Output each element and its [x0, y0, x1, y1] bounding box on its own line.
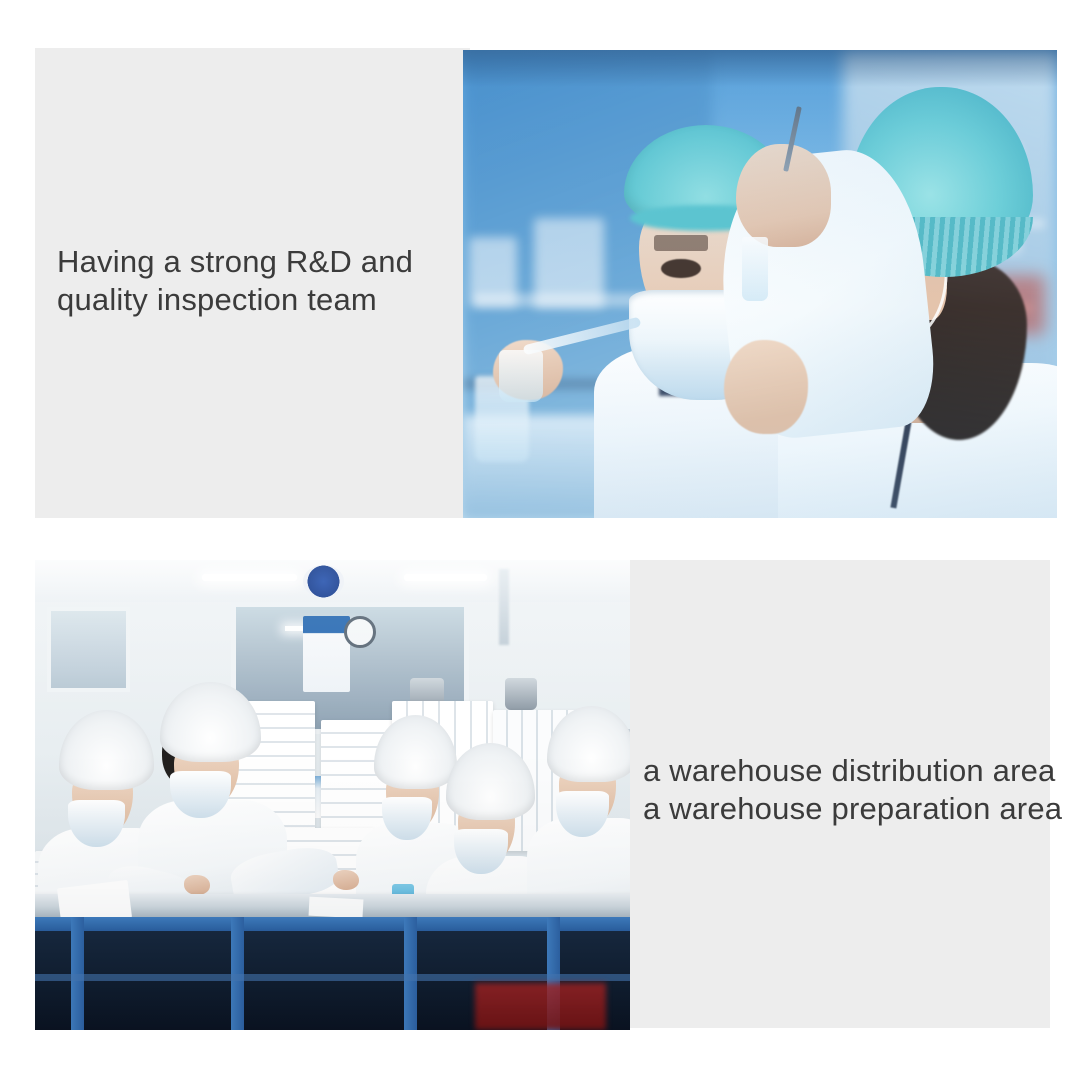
- table-blue-frame: [35, 917, 630, 931]
- hairnet: [547, 706, 630, 783]
- sample-tube: [742, 237, 768, 301]
- gloved-hand-upper: [736, 144, 831, 247]
- hairnet: [446, 743, 535, 820]
- wall-sign-round: [303, 565, 345, 598]
- worker-eye: [661, 259, 701, 279]
- worker-eyebrow: [654, 235, 709, 251]
- paper-sheet: [308, 897, 362, 919]
- lab-inspection-photo: [463, 50, 1057, 518]
- worker-hand: [333, 870, 359, 890]
- floor-red-area: [475, 983, 606, 1030]
- wall-window-left: [47, 607, 130, 692]
- top-caption-line-1: Having a strong R&D and: [57, 243, 413, 281]
- worker-hand: [184, 875, 210, 895]
- slide-canvas: Having a strong R&D and quality inspecti…: [0, 0, 1080, 1080]
- lab-ceiling: [463, 50, 1057, 87]
- top-caption-line-2: quality inspection team: [57, 281, 413, 319]
- ceiling-light: [404, 574, 487, 581]
- lab-equipment-box: [469, 237, 517, 307]
- top-caption: Having a strong R&D and quality inspecti…: [57, 243, 413, 319]
- hairnet: [59, 710, 154, 790]
- reagent-flask: [499, 350, 543, 402]
- hairnet: [160, 682, 261, 762]
- ceiling-duct: [499, 569, 509, 644]
- steel-container: [505, 678, 537, 710]
- table-rail: [35, 974, 630, 981]
- wall-poster: [303, 616, 351, 691]
- bottom-caption-line-1: a warehouse distribution area: [643, 752, 1062, 790]
- bottom-caption: a warehouse distribution area a warehous…: [643, 752, 1062, 828]
- bottom-caption-line-2: a warehouse preparation area: [643, 790, 1062, 828]
- warehouse-photo: [35, 560, 630, 1030]
- ceiling-light: [202, 574, 297, 581]
- gloved-hand-lower: [724, 340, 807, 434]
